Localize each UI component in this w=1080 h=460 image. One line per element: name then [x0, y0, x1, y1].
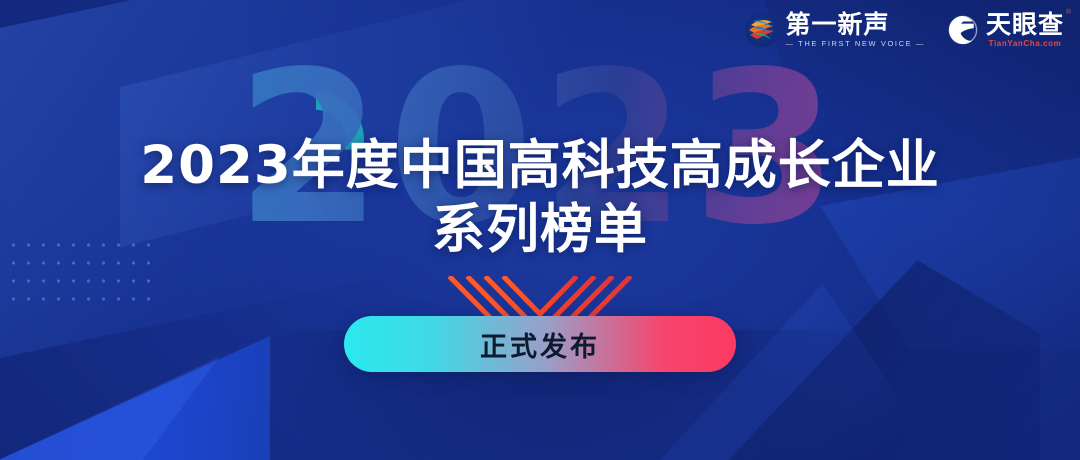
title-line-2: 系列榜单 — [0, 198, 1080, 262]
title-line-1: 2023年度中国高科技高成长企业 — [0, 134, 1080, 198]
title-block: 2023年度中国高科技高成长企业 系列榜单 — [0, 134, 1080, 262]
logo-tianyancha-text: 天眼查 ® TianYanCha.com — [986, 12, 1064, 48]
promo-banner: 2023 2023年度中国高科技高成长企业 系列榜单 正式发布 — [0, 0, 1080, 460]
registered-trademark-icon: ® — [1066, 9, 1071, 16]
logo-diyixinsheng-text: 第一新声 — THE FIRST NEW VOICE — — [786, 12, 925, 48]
logo-row: 第一新声 — THE FIRST NEW VOICE — 天眼查 ® TianY… — [745, 12, 1064, 48]
logo-tianyancha-tagline: TianYanCha.com — [986, 40, 1064, 48]
logo-tianyancha-cn: 天眼查 — [986, 12, 1064, 37]
release-status-label: 正式发布 — [480, 325, 600, 364]
logo-diyixinsheng-tagline: — THE FIRST NEW VOICE — — [786, 40, 925, 48]
logo-tianyancha: 天眼查 ® TianYanCha.com — [947, 12, 1064, 48]
release-status-pill: 正式发布 — [344, 316, 736, 372]
logo-diyixinsheng: 第一新声 — THE FIRST NEW VOICE — — [745, 12, 925, 48]
camera-lens-icon — [947, 14, 979, 46]
swirl-ribbon-icon — [745, 13, 779, 47]
logo-diyixinsheng-cn: 第一新声 — [786, 12, 925, 37]
